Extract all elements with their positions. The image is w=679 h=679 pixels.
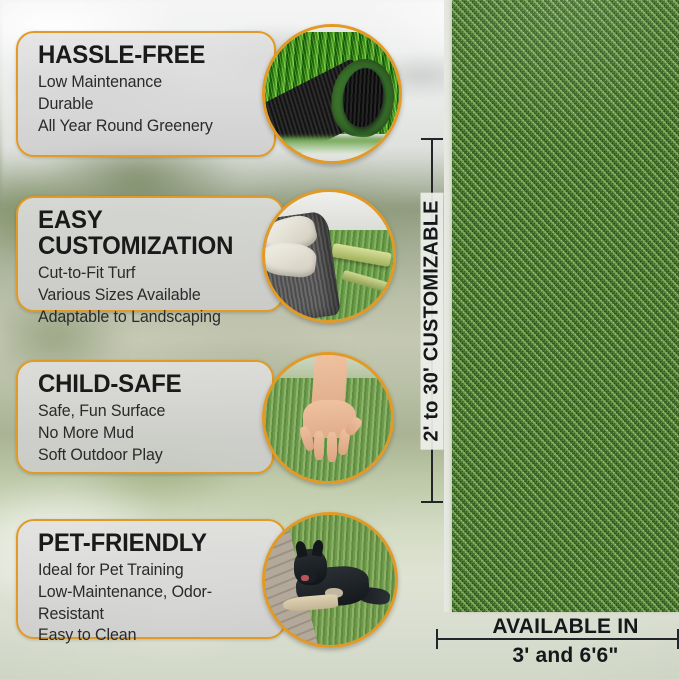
- feature-title: CHILD-SAFE: [38, 371, 263, 397]
- feature-title: EASY CUSTOMIZATION: [38, 207, 272, 259]
- feature-card-child-safe: CHILD-SAFE Safe, Fun Surface No More Mud…: [16, 360, 274, 474]
- feature-bullet: Adaptable to Landscaping: [38, 307, 275, 329]
- length-measurement: 2' to 30' CUSTOMIZABLE: [419, 138, 445, 503]
- feature-bullet-list: Safe, Fun Surface No More Mud Soft Outdo…: [38, 401, 272, 466]
- width-label-line1: AVAILABLE IN: [452, 616, 679, 638]
- child-hand-photo: [262, 352, 394, 484]
- product-infographic: HASSLE-FREE Low Maintenance Durable All …: [0, 0, 679, 679]
- feature-bullet-list: Cut-to-Fit Turf Various Sizes Available …: [38, 263, 282, 328]
- feature-bullet: Low Maintenance: [38, 72, 267, 94]
- turf-strip-margin: [444, 0, 452, 612]
- feature-bullet: Cut-to-Fit Turf: [38, 263, 275, 285]
- feature-bullet: Durable: [38, 94, 267, 116]
- turf-product-swatch: [452, 0, 679, 612]
- feature-bullet: Various Sizes Available: [38, 285, 275, 307]
- feature-bullet-list: Low Maintenance Durable All Year Round G…: [38, 72, 274, 137]
- width-label-line2: 3' and 6'6": [452, 644, 679, 667]
- feature-bullet: Easy to Clean: [38, 625, 277, 647]
- measurement-tick-bottom: [421, 501, 443, 503]
- feature-card-pet-friendly: PET-FRIENDLY Ideal for Pet Training Low-…: [16, 519, 286, 639]
- feature-title: PET-FRIENDLY: [38, 530, 274, 556]
- length-label: 2' to 30' CUSTOMIZABLE: [421, 192, 444, 449]
- feature-bullet: All Year Round Greenery: [38, 116, 267, 138]
- feature-bullet-list: Ideal for Pet Training Low-Maintenance, …: [38, 560, 284, 647]
- turf-installation-photo: [262, 189, 396, 323]
- feature-bullet: Soft Outdoor Play: [38, 445, 265, 467]
- feature-card-easy-customization: EASY CUSTOMIZATION Cut-to-Fit Turf Vario…: [16, 196, 284, 312]
- feature-bullet: Ideal for Pet Training: [38, 560, 277, 582]
- width-label: AVAILABLE IN 3' and 6'6": [452, 616, 679, 667]
- dog-on-turf-photo: [262, 512, 398, 648]
- feature-bullet: Safe, Fun Surface: [38, 401, 265, 423]
- feature-card-hassle-free: HASSLE-FREE Low Maintenance Durable All …: [16, 31, 276, 157]
- turf-roll-photo: [262, 24, 402, 164]
- feature-bullet: No More Mud: [38, 423, 265, 445]
- feature-bullet: Low-Maintenance, Odor-Resistant: [38, 582, 277, 626]
- feature-title: HASSLE-FREE: [38, 42, 265, 68]
